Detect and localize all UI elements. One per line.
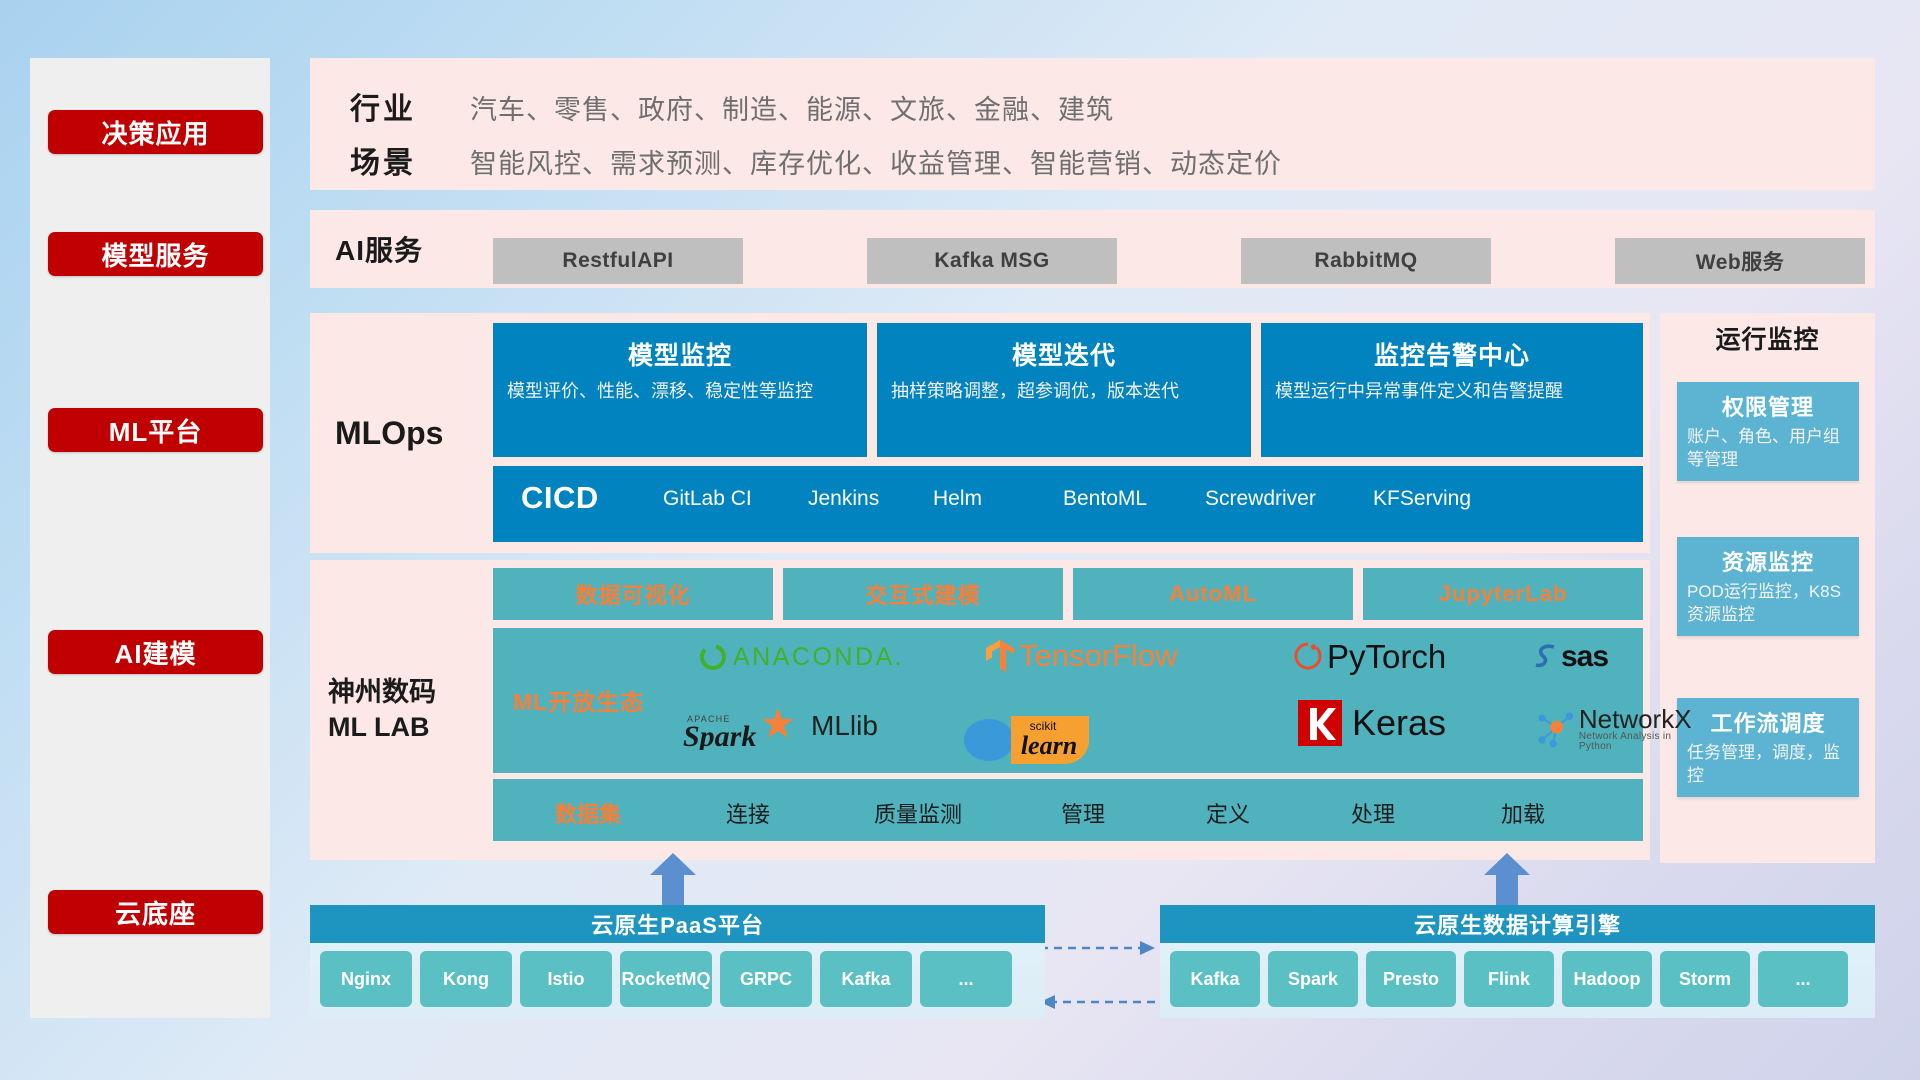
compute-chip-hadoop[interactable]: Hadoop (1562, 951, 1652, 1007)
mlops-label: MLOps (335, 313, 443, 553)
chip-label: Spark (1288, 969, 1338, 989)
compute-chip-storm[interactable]: Storm (1660, 951, 1750, 1007)
mlops-card-alert-center[interactable]: 监控告警中心 模型运行中异常事件定义和告警提醒 (1261, 323, 1643, 457)
tool-chip-label: 数据可视化 (575, 578, 690, 610)
rail-label: 模型服务 (101, 236, 209, 273)
ai-chip-restfulapi[interactable]: RestfulAPI (493, 238, 743, 284)
sas-logo-text: sas (1561, 640, 1608, 674)
pytorch-logo-text: PyTorch (1327, 638, 1446, 676)
arrow-up-compute-icon (1484, 853, 1530, 905)
tool-chip-label: JupyterLab (1439, 581, 1568, 607)
mon-card-workflow[interactable]: 工作流调度 任务管理，调度，监控 (1677, 698, 1859, 797)
dataset-item-define[interactable]: 定义 (1158, 797, 1298, 829)
mon-card-title: 资源监控 (1677, 537, 1859, 581)
networkx-logo: NetworkX Network Analysis in Python (1533, 706, 1696, 752)
cicd-item-label: GitLab CI (663, 487, 752, 510)
tool-chip-interactive-modeling[interactable]: 交互式建模 (783, 568, 1063, 620)
tool-chip-automl[interactable]: AutoML (1073, 568, 1353, 620)
cicd-item-label: BentoML (1063, 487, 1147, 510)
mon-card-permission[interactable]: 权限管理 账户、角色、用户组等管理 (1677, 382, 1859, 481)
ml-ecosystem-box: ML开放生态 ANACONDA. TensorFlow PyTorch (493, 628, 1643, 773)
card-title: 模型监控 (493, 323, 867, 378)
diagram-canvas: 决策应用 模型服务 ML平台 AI建模 云底座 行业 汽车、零售、政府、制造、能… (0, 0, 1920, 1080)
ml-ecosystem-label: ML开放生态 (513, 683, 644, 717)
tensorflow-logo-text: TensorFlow (1019, 638, 1178, 674)
mllib-text: MLlib (811, 710, 878, 742)
card-desc: 模型运行中异常事件定义和告警提醒 (1261, 378, 1643, 404)
keras-logo-text: Keras (1352, 702, 1446, 744)
cicd-item-jenkins[interactable]: Jenkins (808, 486, 886, 512)
tool-chip-label: AutoML (1169, 581, 1257, 607)
paas-chip-kafka[interactable]: Kafka (820, 951, 912, 1007)
chip-label: RestfulAPI (562, 249, 673, 273)
card-desc: 模型评价、性能、漂移、稳定性等监控 (493, 378, 867, 404)
cicd-item-helm[interactable]: Helm (933, 486, 1011, 512)
dataset-item-load[interactable]: 加载 (1448, 797, 1598, 829)
networkx-logo-text: NetworkX (1579, 706, 1696, 732)
chip-label: ... (1795, 969, 1810, 989)
dataset-bar: 数据集 连接 质量监测 管理 定义 处理 加载 (493, 779, 1643, 841)
mon-card-desc: 任务管理，调度，监控 (1677, 742, 1859, 797)
mon-card-desc: 账户、角色、用户组等管理 (1677, 426, 1859, 481)
chip-label: Kafka (1190, 969, 1239, 989)
industry-value: 汽车、零售、政府、制造、能源、文旅、金融、建筑 (470, 88, 1114, 127)
cicd-item-kfserving[interactable]: KFServing (1373, 486, 1483, 512)
mlops-card-model-monitoring[interactable]: 模型监控 模型评价、性能、漂移、稳定性等监控 (493, 323, 867, 457)
mon-card-desc: POD运行监控，K8S资源监控 (1677, 581, 1859, 636)
left-rail (30, 58, 270, 1018)
chip-label: Istio (547, 969, 584, 989)
sas-logo: sas (1533, 640, 1608, 674)
tool-chip-data-visualization[interactable]: 数据可视化 (493, 568, 773, 620)
chip-label: Storm (1679, 969, 1731, 989)
svg-text:learn: learn (1021, 731, 1077, 760)
cicd-item-label: KFServing (1373, 487, 1471, 510)
rail-label: 云底座 (115, 894, 196, 931)
paas-platform-block: 云原生PaaS平台 Nginx Kong Istio RocketMQ GRPC… (310, 905, 1045, 1018)
chip-label: RabbitMQ (1314, 249, 1417, 273)
dataset-item-quality[interactable]: 质量监测 (833, 797, 1003, 829)
chip-label: Kong (443, 969, 489, 989)
compute-chip-spark[interactable]: Spark (1268, 951, 1358, 1007)
rail-item-ai-modeling[interactable]: AI建模 (48, 630, 263, 674)
dataset-item-process[interactable]: 处理 (1303, 797, 1443, 829)
mlops-card-model-iteration[interactable]: 模型迭代 抽样策略调整，超参调优，版本迭代 (877, 323, 1251, 457)
industry-scenario-panel: 行业 汽车、零售、政府、制造、能源、文旅、金融、建筑 场景 智能风控、需求预测、… (310, 58, 1875, 190)
cicd-item-screwdriver[interactable]: Screwdriver (1205, 486, 1327, 512)
chip-label: RocketMQ (622, 969, 711, 989)
rail-label: 决策应用 (101, 114, 209, 151)
dataset-item-label: 连接 (726, 802, 770, 827)
data-compute-engine-title: 云原生数据计算引擎 (1160, 905, 1875, 943)
tool-chip-label: 交互式建模 (865, 578, 980, 610)
paas-chip-more[interactable]: ... (920, 951, 1012, 1007)
tensorflow-logo: TensorFlow (986, 638, 1178, 674)
ai-chip-rabbitmq[interactable]: RabbitMQ (1241, 238, 1491, 284)
dataset-item-label: 质量监测 (874, 802, 962, 827)
chip-label: Presto (1383, 969, 1439, 989)
dataset-item-label: 加载 (1501, 802, 1545, 827)
paas-platform-title: 云原生PaaS平台 (310, 905, 1045, 943)
chip-label: Nginx (341, 969, 391, 989)
anaconda-logo: ANACONDA. (698, 642, 904, 672)
mon-card-title: 权限管理 (1677, 382, 1859, 426)
chip-label: ... (958, 969, 973, 989)
ml-lab-label-line2: ML LAB (328, 710, 430, 745)
chip-label: Kafka MSG (934, 249, 1049, 273)
chip-label: Flink (1488, 969, 1530, 989)
chip-label: Hadoop (1574, 969, 1641, 989)
dataset-item-label: 管理 (1061, 802, 1105, 827)
dataset-label: 数据集 (513, 797, 663, 829)
keras-logo: Keras (1298, 700, 1446, 746)
cicd-item-label: Jenkins (808, 487, 879, 510)
paas-chip-nginx[interactable]: Nginx (320, 951, 412, 1007)
spark-mllib-logo: APACHE Spark MLlib (683, 702, 878, 750)
svg-text:Spark: Spark (683, 720, 756, 750)
cicd-title: CICD (521, 480, 599, 516)
rail-label: ML平台 (109, 412, 203, 449)
data-compute-engine-block: 云原生数据计算引擎 Kafka Spark Presto Flink Hadoo… (1160, 905, 1875, 1018)
runtime-monitoring-title: 运行监控 (1660, 320, 1875, 356)
rail-item-model-service[interactable]: 模型服务 (48, 232, 263, 276)
industry-key: 行业 (350, 84, 416, 128)
compute-chip-presto[interactable]: Presto (1366, 951, 1456, 1007)
ai-chip-web-service[interactable]: Web服务 (1615, 238, 1865, 284)
scikit-learn-logo: scikit learn (961, 706, 1121, 764)
arrow-up-paas-icon (650, 853, 696, 905)
networkx-logo-tagline: Network Analysis in Python (1579, 732, 1696, 752)
rail-label: AI建模 (114, 634, 196, 671)
chip-label: GRPC (740, 969, 792, 989)
card-desc: 抽样策略调整，超参调优，版本迭代 (877, 378, 1251, 404)
cicd-item-bentoml[interactable]: BentoML (1063, 486, 1153, 512)
paas-chip-rocketmq[interactable]: RocketMQ (620, 951, 712, 1007)
mon-card-title: 工作流调度 (1677, 698, 1859, 742)
rail-item-decision-app[interactable]: 决策应用 (48, 110, 263, 154)
cicd-item-label: Helm (933, 487, 982, 510)
ai-service-label: AI服务 (335, 210, 423, 288)
rail-item-cloud-base[interactable]: 云底座 (48, 890, 263, 934)
ml-lab-label: 神州数码 ML LAB (328, 560, 488, 860)
dataset-item-connect[interactable]: 连接 (673, 797, 823, 829)
chip-label: Web服务 (1696, 246, 1784, 276)
dataset-item-manage[interactable]: 管理 (1013, 797, 1153, 829)
paas-chip-kong[interactable]: Kong (420, 951, 512, 1007)
dataset-item-label: 处理 (1351, 802, 1395, 827)
anaconda-logo-text: ANACONDA. (733, 643, 904, 672)
compute-chip-flink[interactable]: Flink (1464, 951, 1554, 1007)
chip-label: Kafka (841, 969, 890, 989)
cicd-item-label: Screwdriver (1205, 487, 1316, 510)
ml-lab-label-line1: 神州数码 (328, 675, 436, 710)
tool-chip-jupyterlab[interactable]: JupyterLab (1363, 568, 1643, 620)
scenario-key: 场景 (350, 138, 416, 182)
paas-chip-istio[interactable]: Istio (520, 951, 612, 1007)
card-title: 监控告警中心 (1261, 323, 1643, 378)
card-title: 模型迭代 (877, 323, 1251, 378)
cicd-item-gitlab-ci[interactable]: GitLab CI (663, 486, 778, 512)
ai-chip-kafka-msg[interactable]: Kafka MSG (867, 238, 1117, 284)
bidirectional-dashed-connector-icon (1040, 930, 1155, 1020)
scenario-value: 智能风控、需求预测、库存优化、收益管理、智能营销、动态定价 (470, 142, 1282, 181)
compute-chip-kafka[interactable]: Kafka (1170, 951, 1260, 1007)
rail-item-ml-platform[interactable]: ML平台 (48, 408, 263, 452)
cicd-bar: CICD GitLab CI Jenkins Helm BentoML Scre… (493, 466, 1643, 542)
compute-chip-more[interactable]: ... (1758, 951, 1848, 1007)
mon-card-resource[interactable]: 资源监控 POD运行监控，K8S资源监控 (1677, 537, 1859, 636)
dataset-item-label: 定义 (1206, 802, 1250, 827)
pytorch-logo: PyTorch (1293, 638, 1446, 676)
paas-chip-grpc[interactable]: GRPC (720, 951, 812, 1007)
